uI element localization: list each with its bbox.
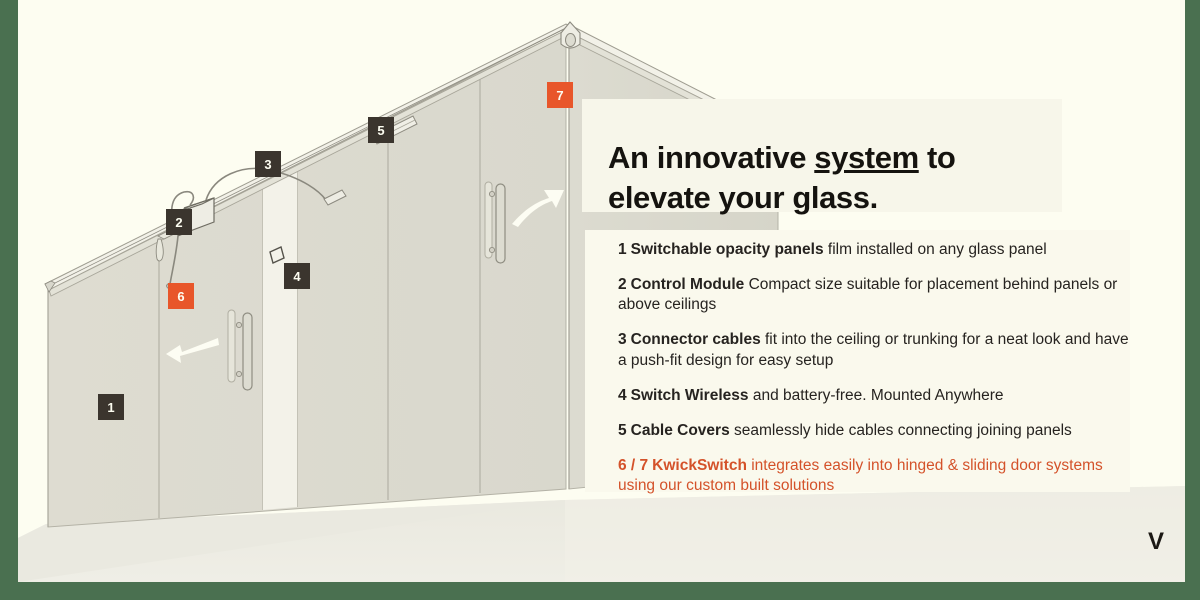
feature-number: 1 — [618, 241, 631, 258]
floor-highlight — [565, 486, 1185, 582]
feature-term: Connector cables — [631, 331, 761, 348]
feature-item-6-7: 6 / 7KwickSwitch integrates easily into … — [618, 456, 1138, 496]
feature-list: 1Switchable opacity panels film installe… — [618, 240, 1138, 496]
feature-item-1: 1Switchable opacity panels film installe… — [618, 240, 1138, 260]
diagram-badge-1[interactable]: 1 — [98, 394, 124, 420]
diagram-badge-2[interactable]: 2 — [166, 209, 192, 235]
diagram-badge-5[interactable]: 5 — [368, 117, 394, 143]
badge-label: 4 — [293, 270, 300, 283]
letterbox-bar-bottom — [0, 582, 1200, 600]
brand-logo: V — [1148, 530, 1164, 554]
badge-label: 2 — [175, 216, 182, 229]
letterbox-bar-right — [1185, 0, 1200, 600]
diagram-badge-7[interactable]: 7 — [547, 82, 573, 108]
headline-line1-post: to — [919, 140, 956, 175]
badge-label: 5 — [377, 124, 384, 137]
feature-item-3: 3Connector cables fit into the ceiling o… — [618, 330, 1138, 370]
diagram-badge-3[interactable]: 3 — [255, 151, 281, 177]
feature-item-2: 2Control Module Compact size suitable fo… — [618, 275, 1138, 315]
letterbox-bar-left — [0, 0, 18, 600]
feature-description: film installed on any glass panel — [824, 241, 1047, 258]
feature-item-4: 4Switch Wireless and battery-free. Mount… — [618, 386, 1138, 406]
page-title: An innovative system toelevate your glas… — [608, 138, 1078, 219]
feature-term: Cable Covers — [631, 422, 730, 439]
headline-underlined-word: system — [814, 140, 918, 175]
feature-term: Switchable opacity panels — [631, 241, 824, 258]
headline-line1-pre: An innovative — [608, 140, 814, 175]
feature-number: 5 — [618, 422, 631, 439]
badge-label: 6 — [177, 290, 184, 303]
badge-label: 1 — [107, 401, 114, 414]
slide-canvas: 1 2 3 4 5 6 7 An innovative system toele… — [18, 0, 1185, 582]
feature-description: and battery-free. Mounted Anywhere — [749, 387, 1004, 404]
diagram-badge-4[interactable]: 4 — [284, 263, 310, 289]
diagram-badge-6[interactable]: 6 — [168, 283, 194, 309]
feature-number: 4 — [618, 387, 631, 404]
feature-number: 3 — [618, 331, 631, 348]
headline-line2: elevate your glass. — [608, 180, 878, 215]
feature-item-5: 5Cable Covers seamlessly hide cables con… — [618, 421, 1138, 441]
slide-stage: 1 2 3 4 5 6 7 An innovative system toele… — [0, 0, 1200, 600]
feature-term: Control Module — [631, 276, 745, 293]
badge-label: 7 — [556, 89, 563, 102]
feature-number: 6 / 7 — [618, 457, 652, 474]
feature-term: KwickSwitch — [652, 457, 747, 474]
feature-term: Switch Wireless — [631, 387, 749, 404]
badge-label: 3 — [264, 158, 271, 171]
feature-description: seamlessly hide cables connecting joinin… — [730, 422, 1072, 439]
feature-number: 2 — [618, 276, 631, 293]
